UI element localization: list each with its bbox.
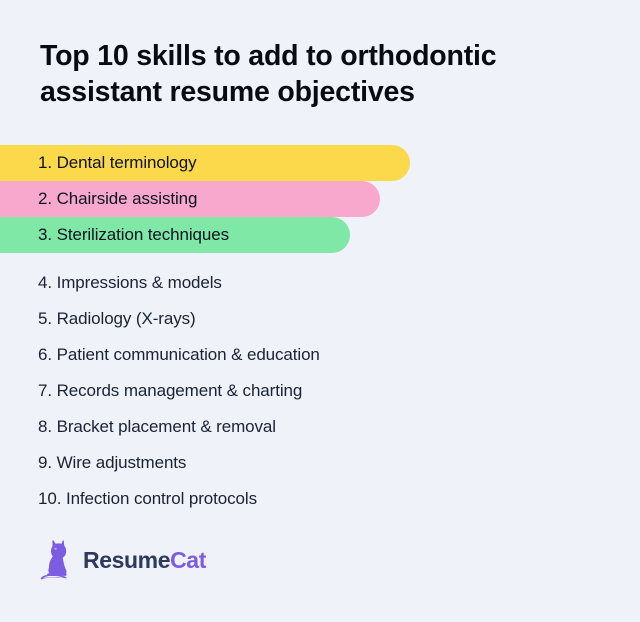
skill-item-label: 9. Wire adjustments <box>38 453 186 473</box>
page-title: Top 10 skills to add to orthodontic assi… <box>40 38 620 111</box>
skill-list-item: 4. Impressions & models <box>0 265 640 301</box>
skill-item-label: 4. Impressions & models <box>38 273 222 293</box>
skill-list-item: 9. Wire adjustments <box>0 445 640 481</box>
skill-item-label: 3. Sterilization techniques <box>38 225 229 245</box>
skill-item-label: 6. Patient communication & education <box>38 345 320 365</box>
skill-list-item: 6. Patient communication & education <box>0 337 640 373</box>
logo-word-resume: Resume <box>83 547 170 573</box>
skill-list-item: 1. Dental terminology <box>0 145 640 181</box>
skill-list-item: 7. Records management & charting <box>0 373 640 409</box>
skill-list-item: 2. Chairside assisting <box>0 181 640 217</box>
skill-list-item: 5. Radiology (X-rays) <box>0 301 640 337</box>
skill-list-item: 3. Sterilization techniques <box>0 217 640 253</box>
skill-item-label: 8. Bracket placement & removal <box>38 417 276 437</box>
skill-item-label: 1. Dental terminology <box>38 153 197 173</box>
resumecat-logo[interactable]: ResumeCat <box>40 540 206 580</box>
cat-silhouette-icon <box>40 540 74 580</box>
logo-wordmark: ResumeCat <box>83 549 206 572</box>
skill-item-label: 5. Radiology (X-rays) <box>38 309 196 329</box>
skill-list-item: 10. Infection control protocols <box>0 481 640 517</box>
skill-list-item: 8. Bracket placement & removal <box>0 409 640 445</box>
skill-item-label: 2. Chairside assisting <box>38 189 197 209</box>
skill-item-label: 7. Records management & charting <box>38 381 302 401</box>
logo-word-cat: Cat <box>170 547 206 573</box>
list-spacer <box>0 253 640 265</box>
skills-list: 1. Dental terminology2. Chairside assist… <box>0 145 640 517</box>
skill-item-label: 10. Infection control protocols <box>38 489 257 509</box>
